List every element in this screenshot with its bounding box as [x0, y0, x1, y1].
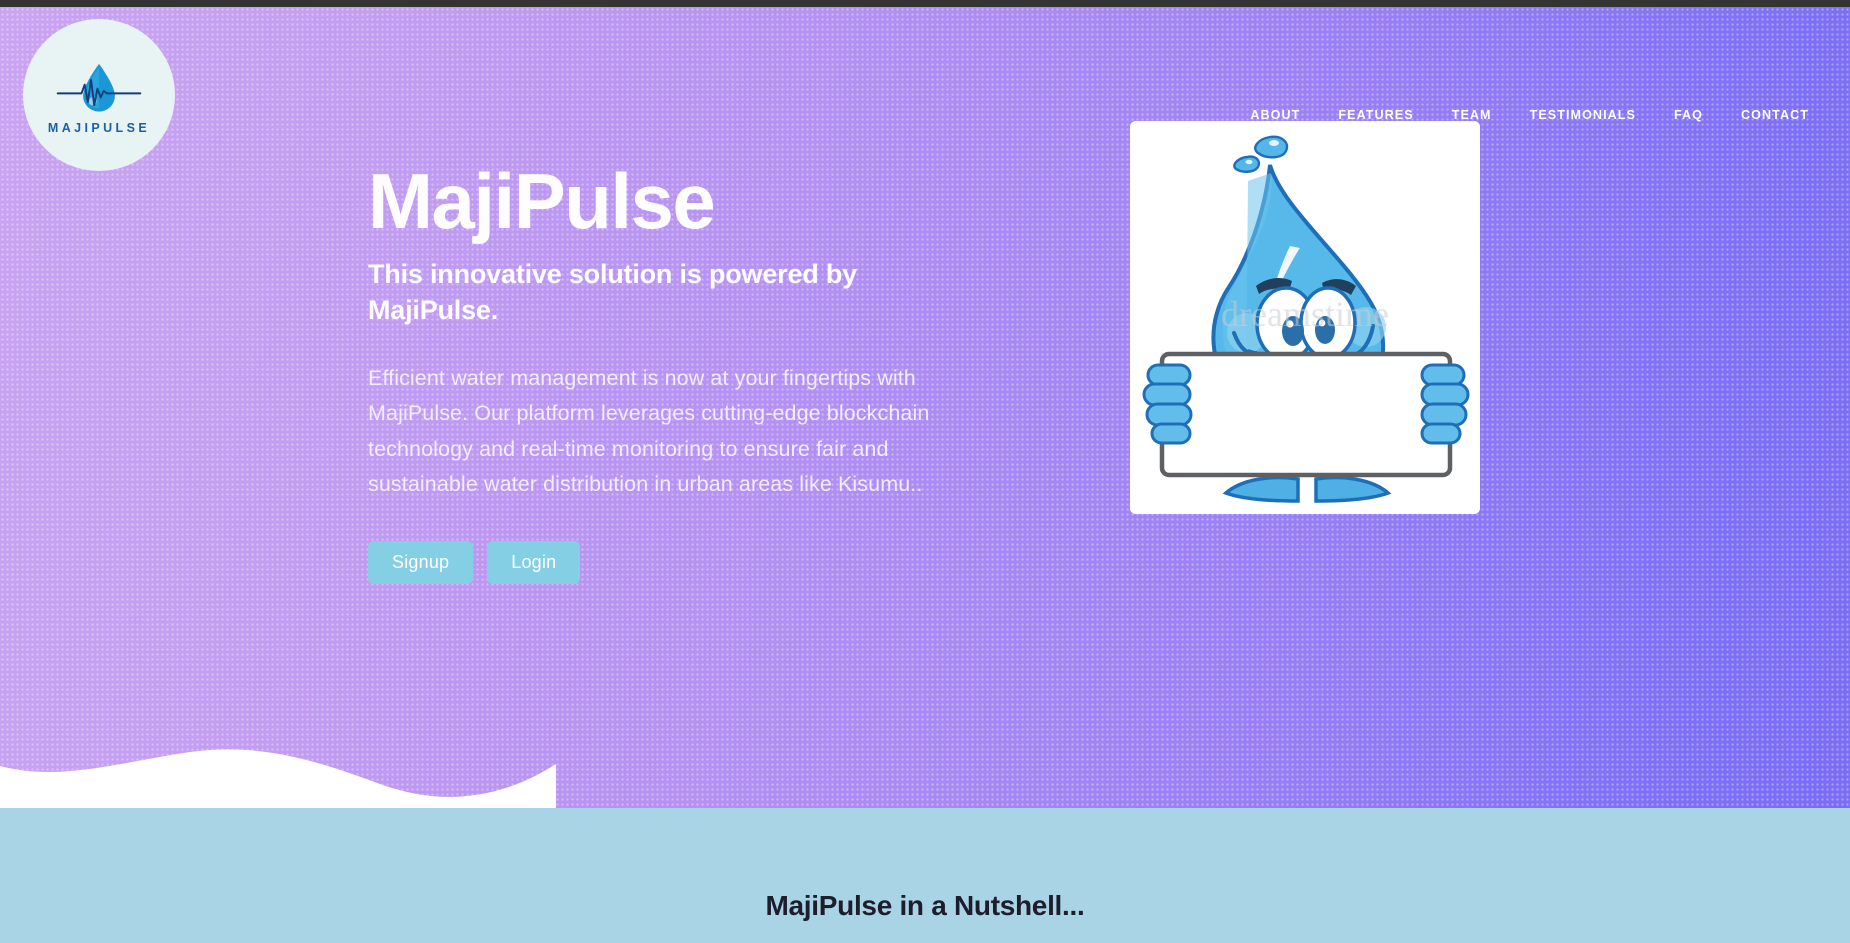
nav-item-faq[interactable]: FAQ	[1655, 108, 1722, 122]
wave-shape-icon	[0, 730, 556, 808]
water-droplet-pulse-logo-icon	[51, 56, 147, 118]
hero-title: MajiPulse	[368, 162, 968, 240]
nutshell-title: MajiPulse in a Nutshell...	[0, 890, 1850, 922]
illustration-watermark: dreamstime	[1221, 294, 1389, 334]
nutshell-section: MajiPulse in a Nutshell...	[0, 808, 1850, 943]
login-button[interactable]: Login	[487, 541, 580, 584]
hero-description: Efficient water management is now at you…	[368, 361, 943, 503]
hero-action-buttons: Signup Login	[368, 541, 968, 584]
nav-item-contact[interactable]: CONTACT	[1722, 108, 1828, 122]
signup-button[interactable]: Signup	[368, 541, 473, 584]
hero-section: MAJIPULSE ABOUT FEATURES TEAM TESTIMONIA…	[0, 7, 1850, 808]
nav-item-team[interactable]: TEAM	[1433, 108, 1511, 122]
hero-illustration-card: dreamstime	[1130, 121, 1480, 514]
nav-item-about[interactable]: ABOUT	[1231, 108, 1319, 122]
hero-copy: MajiPulse This innovative solution is po…	[368, 162, 968, 584]
water-drop-mascot-icon: dreamstime	[1130, 121, 1480, 514]
brand-logo[interactable]: MAJIPULSE	[23, 19, 175, 171]
nav-item-testimonials[interactable]: TESTIMONIALS	[1511, 108, 1655, 122]
hero-wave-divider	[0, 730, 556, 808]
browser-chrome-bar	[0, 0, 1850, 7]
brand-wordmark: MAJIPULSE	[48, 121, 150, 135]
main-navigation: ABOUT FEATURES TEAM TESTIMONIALS FAQ CON…	[1231, 108, 1828, 122]
hero-subtitle: This innovative solution is powered by M…	[368, 257, 958, 329]
nav-item-features[interactable]: FEATURES	[1319, 108, 1432, 122]
page-root: MAJIPULSE ABOUT FEATURES TEAM TESTIMONIA…	[0, 0, 1850, 943]
